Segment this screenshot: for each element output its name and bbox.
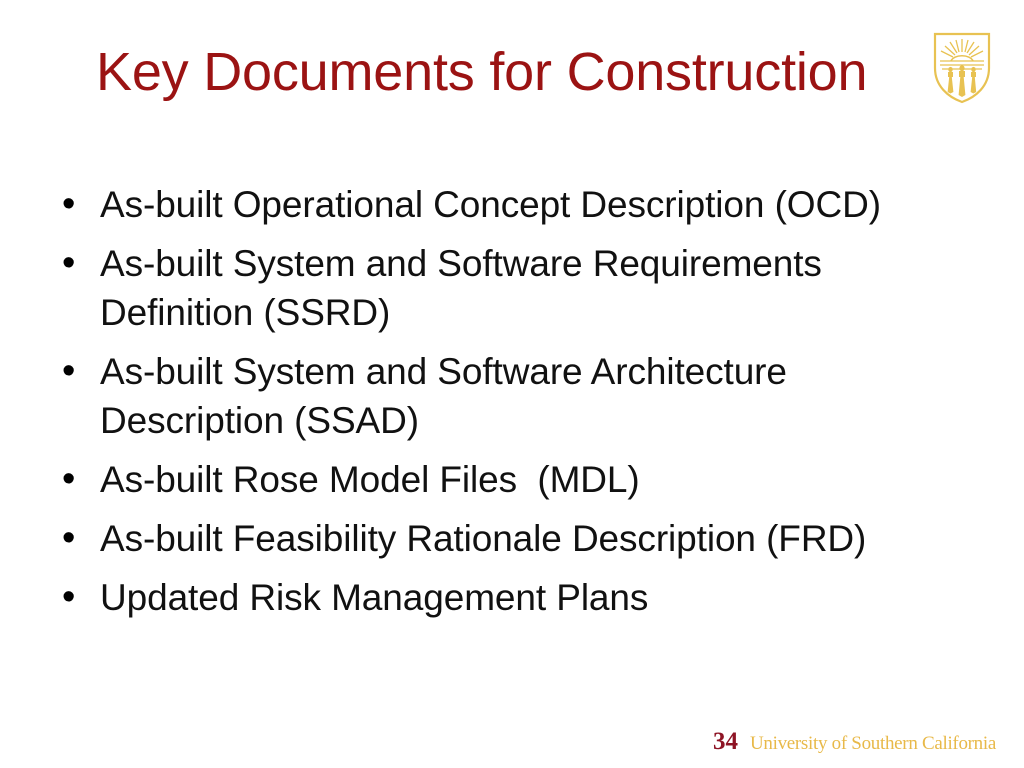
slide: Key Documents for Construction <box>0 0 1024 768</box>
bullet-point-icon: • <box>56 239 100 288</box>
list-item: • As-built Rose Model Files (MDL) <box>56 455 976 504</box>
bullet-point-icon: • <box>56 347 100 396</box>
bullet-point-icon: • <box>56 455 100 504</box>
list-item-label: As-built System and Software Architectur… <box>100 347 976 445</box>
page-title: Key Documents for Construction <box>96 42 867 102</box>
list-item-label: As-built System and Software Requirement… <box>100 239 976 337</box>
list-item: • As-built Operational Concept Descripti… <box>56 180 976 229</box>
slide-footer: 34 University of Southern California <box>713 729 996 754</box>
bullet-point-icon: • <box>56 573 100 622</box>
list-item-label: As-built Feasibility Rationale Descripti… <box>100 514 976 563</box>
bullet-point-icon: • <box>56 180 100 229</box>
list-item-label: As-built Operational Concept Description… <box>100 180 976 229</box>
bullet-list: • As-built Operational Concept Descripti… <box>56 180 976 622</box>
bullet-point-icon: • <box>56 514 100 563</box>
slide-title-container: Key Documents for Construction <box>96 36 996 108</box>
footer-organization-label: University of Southern California <box>750 734 996 753</box>
list-item: • As-built System and Software Requireme… <box>56 239 976 337</box>
list-item: • As-built Feasibility Rationale Descrip… <box>56 514 976 563</box>
list-item-label: As-built Rose Model Files (MDL) <box>100 455 976 504</box>
usc-shield-icon <box>932 30 992 104</box>
list-item: • Updated Risk Management Plans <box>56 573 976 622</box>
list-item-label: Updated Risk Management Plans <box>100 573 976 622</box>
list-item: • As-built System and Software Architect… <box>56 347 976 445</box>
page-number: 34 <box>713 729 738 754</box>
